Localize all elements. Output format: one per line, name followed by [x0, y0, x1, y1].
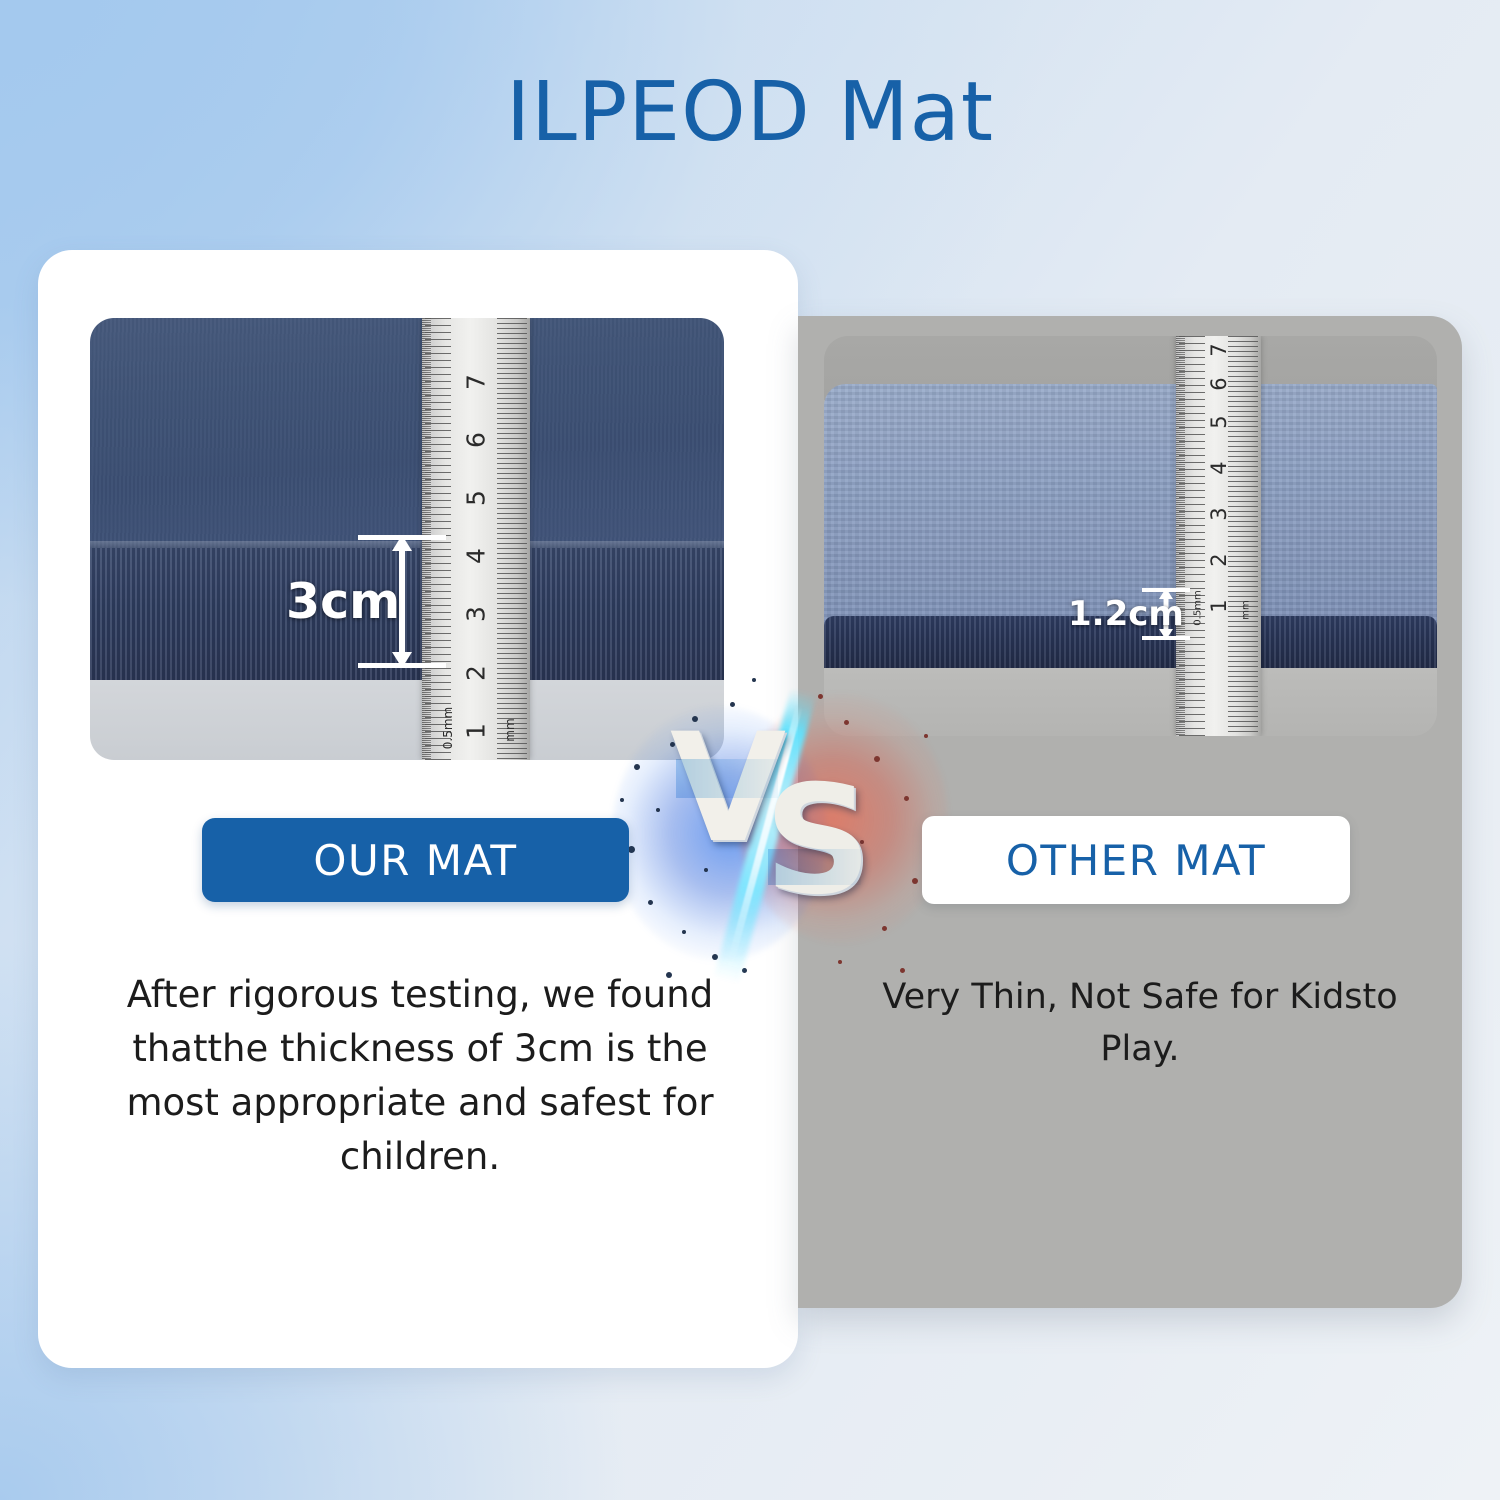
ruler-precision-label-other: 0.5mm: [1193, 590, 1204, 625]
ruler-tick-2: 2: [462, 665, 491, 681]
measurement-label-other: 1.2cm: [1068, 594, 1184, 634]
ruler-tick-1: 1: [462, 723, 491, 739]
our-mat-badge-label: OUR MAT: [313, 836, 517, 885]
ruler-tick-7: 7: [462, 374, 491, 390]
ruler-unit-label-our: mm: [503, 718, 517, 741]
other-mat-description: Very Thin, Not Safe for Kidsto Play.: [880, 972, 1400, 1076]
ruler-tick-6: 6: [1207, 377, 1231, 390]
ruler-unit-label-other: mm: [1241, 600, 1252, 619]
ruler-tick-4: 4: [462, 548, 491, 564]
arrow-down-icon: [392, 652, 412, 668]
our-mat-description: After rigorous testing, we found thatthe…: [120, 968, 720, 1184]
ruler-tick-5: 5: [1207, 415, 1231, 428]
other-mat-photo: 1 2 3 4 5 6 7 0.5mm mm: [824, 336, 1437, 736]
ruler-tick-2: 2: [1207, 553, 1231, 566]
ruler-tick-4: 4: [1207, 461, 1231, 474]
measurement-label-our: 3cm: [286, 573, 400, 630]
other-mat-badge-label: OTHER MAT: [1006, 836, 1266, 885]
arrow-up-icon: [392, 535, 412, 551]
other-mat-badge[interactable]: OTHER MAT: [922, 816, 1350, 904]
floor-our: [90, 680, 724, 760]
page-title: ILPEOD Mat: [0, 70, 1500, 156]
floor-other: [824, 668, 1437, 736]
mat-surface-our: [90, 318, 724, 548]
ruler-numbers-other: 1 2 3 4 5 6 7 0.5mm mm: [1176, 336, 1261, 736]
ruler-tick-7: 7: [1207, 343, 1231, 356]
ruler-tick-5: 5: [462, 490, 491, 506]
our-mat-badge[interactable]: OUR MAT: [202, 818, 629, 902]
promo-banner: ILPEOD Mat 1 2 3 4 5 6 7 0.5mm mm: [0, 0, 1500, 1500]
ruler-other: 1 2 3 4 5 6 7 0.5mm mm: [1176, 336, 1261, 736]
ruler-tick-3: 3: [462, 606, 491, 622]
ruler-tick-6: 6: [462, 432, 491, 448]
ruler-tick-1: 1: [1207, 599, 1231, 612]
ruler-precision-label-our: 0.5mm: [441, 707, 455, 749]
ruler-tick-3: 3: [1207, 507, 1231, 520]
